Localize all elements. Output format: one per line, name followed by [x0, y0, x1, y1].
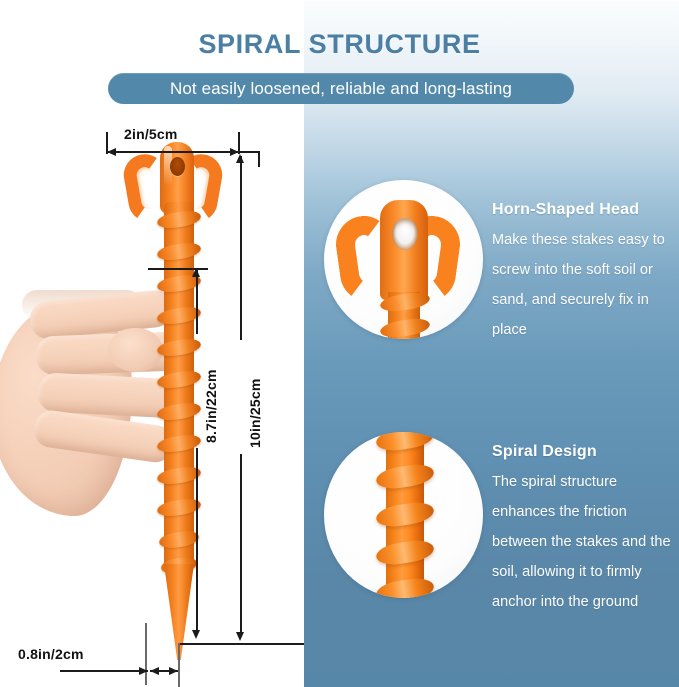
callout-photo-spiral-design — [324, 432, 483, 598]
callout-title-horn-shaped-head: Horn-Shaped Head — [492, 201, 639, 219]
zoom-head-center-column — [380, 200, 428, 300]
dim-tip-tick-left — [145, 623, 147, 685]
dim-total-arrow-down — [236, 632, 244, 641]
dim-tip-inner-arrow-right — [169, 667, 178, 675]
dim-total-top-corner — [258, 151, 260, 167]
zoom-head-rope-hole — [392, 218, 418, 250]
zoom-spiral-thread — [375, 538, 436, 568]
dim-total-line-lower — [240, 454, 242, 634]
dim-total-line-upper — [240, 156, 242, 340]
zoom-spiral-thread — [375, 576, 436, 598]
dim-total-length-label: 10in/25cm — [247, 378, 263, 448]
callout-title-spiral-design: Spiral Design — [492, 443, 597, 461]
dim-tip-offset-line — [60, 670, 148, 672]
dim-total-top-extension — [186, 151, 260, 153]
dim-head-width-label: 2in/5cm — [124, 126, 178, 142]
dim-total-arrow-up — [236, 154, 244, 163]
dim-baseline — [178, 643, 304, 645]
zoom-spiral-shaft — [366, 432, 442, 598]
zoom-spiral-thread — [375, 500, 436, 530]
dim-shaft-line-lower — [196, 448, 198, 632]
dim-tip-offset-label: 0.8in/2cm — [18, 646, 84, 662]
dim-tip-offset-arrow-right — [139, 667, 148, 675]
infographic-canvas: SPIRAL STRUCTURE Not easily loosened, re… — [0, 0, 679, 687]
page-title: SPIRAL STRUCTURE — [0, 29, 679, 60]
dim-shaft-arrow-down — [192, 630, 200, 639]
subtitle-text: Not easily loosened, reliable and long-l… — [108, 73, 574, 104]
dim-shaft-line-upper — [196, 270, 198, 334]
zoom-stake-head — [336, 200, 472, 339]
subtitle-pill: Not easily loosened, reliable and long-l… — [108, 73, 574, 104]
zoom-spiral-thread — [375, 462, 436, 492]
callout-body-horn-shaped-head: Make these stakes easy to screw into the… — [492, 225, 679, 345]
head-rope-hole — [170, 157, 185, 176]
dim-baseline-corner — [178, 643, 180, 687]
dim-shaft-length-label: 8.7in/22cm — [203, 369, 219, 443]
dim-shaft-arrow-up — [192, 268, 200, 277]
header: SPIRAL STRUCTURE Not easily loosened, re… — [0, 0, 679, 118]
stake-product — [128, 140, 238, 660]
callout-body-spiral-design: The spiral structure enhances the fricti… — [492, 467, 679, 617]
zoom-head-thread — [379, 316, 431, 339]
callout-photo-horn-shaped-head — [324, 180, 483, 339]
product-photo: 2in/5cm 8.7in/22cm 10in/25cm 0.8in/2cm — [0, 118, 304, 687]
dim-head-width-arrow-left — [107, 148, 116, 156]
dim-tip-inner-arrow-left — [150, 667, 159, 675]
